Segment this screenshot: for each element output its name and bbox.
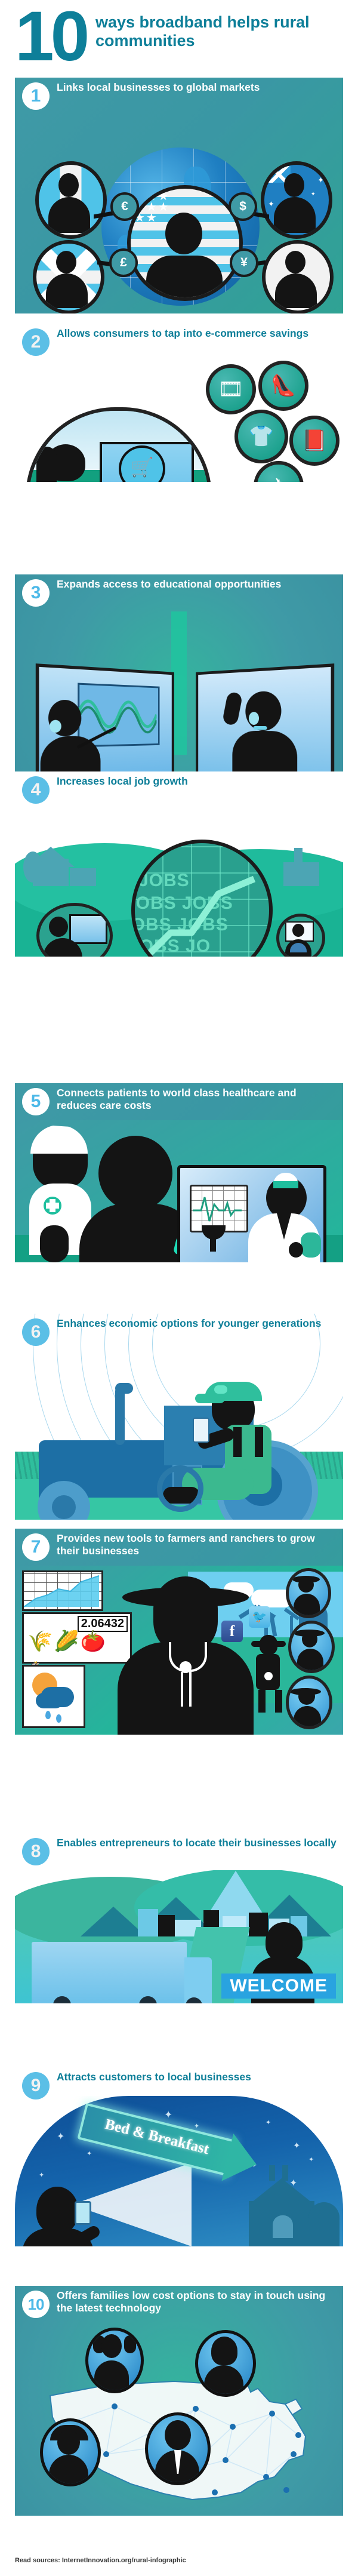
student-screen: [196, 663, 334, 771]
commodity-panel: 2.06432 🌾🌽🍅🐄: [22, 1612, 132, 1664]
currency-euro: €: [110, 192, 139, 221]
film-strip-icon: 🎞: [206, 364, 256, 414]
avatar-japan: [262, 240, 334, 313]
book-icon: 📕: [289, 416, 340, 466]
section-2-title: Allows consumers to tap into e-commerce …: [57, 327, 337, 340]
tv-screen: [177, 1165, 326, 1262]
section-9-art: ✦ ✦ ✦ ✦ ✦ ✦ ✦ ✦ ✦ ✦ ✦ ✦: [15, 2096, 343, 2246]
section-10-title: Offers families low cost options to stay…: [57, 2289, 337, 2314]
section-9-header: 9 Attracts customers to local businesses: [15, 2067, 343, 2096]
section-3-header: 3 Expands access to educational opportun…: [15, 574, 343, 611]
high-heel-shoe-icon: 👠: [258, 361, 308, 411]
section-1-title: Links local businesses to global markets: [57, 81, 337, 94]
woman-avatar: [195, 2330, 256, 2397]
section-9: 9 Attracts customers to local businesses…: [15, 2067, 343, 2246]
section-10-art: [15, 2323, 343, 2516]
avatar-usa: ★★★★★★★★: [127, 185, 243, 301]
section-7-title: Provides new tools to farmers and ranche…: [57, 1532, 337, 1557]
section-4-art: JOBS JOBS JOBS JOBS JOBS JOBS JO: [15, 803, 343, 957]
section-2-header: 2 Allows consumers to tap into e-commerc…: [15, 324, 343, 361]
section-6: 6 Enhances economic options for younger …: [15, 1314, 343, 1520]
facebook-icon[interactable]: f: [221, 1621, 243, 1642]
section-3-art: [15, 611, 343, 771]
section-5-title: Connects patients to world class healthc…: [57, 1087, 337, 1112]
section-2-art: 🛒 🎞 👠 👕 📕 ✈: [15, 361, 343, 482]
jobs-growth-ball: JOBS JOBS JOBS JOBS JOBS JOBS JO: [131, 840, 273, 957]
section-6-art: [15, 1351, 343, 1520]
airplane-icon: ✈: [254, 461, 304, 482]
rancher-avatar-3: [286, 1676, 332, 1729]
girl-avatar: [85, 2328, 144, 2393]
section-4-header: 4 Increases local job growth: [15, 771, 343, 803]
section-8-badge: 8: [22, 1838, 50, 1865]
section-4-badge: 4: [22, 776, 50, 804]
section-4: 4 Increases local job growth JOBS JOBS J…: [15, 771, 343, 957]
page-header: 10 ways broadband helps rural communitie…: [15, 6, 343, 75]
section-9-title: Attracts customers to local businesses: [57, 2071, 337, 2083]
section-5-header: 5 Connects patients to world class healt…: [15, 1083, 343, 1120]
section-6-badge: 6: [22, 1318, 50, 1346]
section-7-badge: 7: [22, 1533, 50, 1561]
section-10: 10 Offers families low cost options to s…: [15, 2286, 343, 2516]
soldier-avatar: [40, 2418, 101, 2486]
section-1-badge: 1: [22, 82, 50, 110]
section-3-title: Expands access to educational opportunit…: [57, 578, 337, 591]
section-3-badge: 3: [22, 579, 50, 607]
section-7-art: 2.06432 🌾🌽🍅🐄 f: [15, 1566, 343, 1735]
person-at-desk-icon: [276, 914, 325, 957]
section-8-title: Enables entrepreneurs to locate their bu…: [57, 1837, 337, 1849]
shirt-icon: 👕: [234, 410, 288, 463]
section-6-header: 6 Enhances economic options for younger …: [15, 1314, 343, 1351]
teacher-screen: [36, 663, 174, 771]
section-10-badge: 10: [22, 2291, 50, 2318]
shopper-scene: 🛒: [26, 407, 212, 482]
page-title: ways broadband helps rural communities: [95, 13, 346, 50]
section-5-art: [15, 1120, 343, 1262]
section-8-header: 8 Enables entrepreneurs to locate their …: [15, 1833, 343, 1870]
avatar-uk: [33, 240, 104, 313]
twitter-icon[interactable]: 🐦: [249, 1606, 270, 1628]
section-1-art: ★★★★★★★★ ✦ ✦ ✦: [15, 115, 343, 313]
section-10-header: 10 Offers families low cost options to s…: [15, 2286, 343, 2323]
section-5: 5 Connects patients to world class healt…: [15, 1083, 343, 1262]
infographic-page: 10 ways broadband helps rural communitie…: [0, 0, 358, 2576]
currency-pound: £: [109, 248, 138, 277]
night-sky-stars: ✦ ✦ ✦ ✦ ✦ ✦ ✦ ✦ ✦ ✦ ✦ ✦: [15, 2096, 343, 2246]
welcome-sign: WELCOME: [221, 1974, 336, 1999]
source-note: Read sources: InternetInnovation.org/rur…: [15, 2557, 343, 2564]
section-2-badge: 2: [22, 328, 50, 356]
weather-panel: [22, 1665, 85, 1728]
section-8-art: WELCOME: [15, 1870, 343, 2003]
man-avatar: [145, 2412, 211, 2485]
market-chart-panel: [22, 1570, 103, 1611]
rancher-avatar-2: [288, 1621, 335, 1673]
section-7-header: 7 Provides new tools to farmers and ranc…: [15, 1529, 343, 1566]
rancher-avatar-1: [286, 1568, 331, 1618]
avatar-australia: ✦ ✦ ✦: [261, 161, 332, 239]
currency-dollar: $: [229, 192, 257, 221]
section-7: 7 Provides new tools to farmers and ranc…: [15, 1529, 343, 1735]
avatar-france: [35, 161, 107, 239]
currency-yen: ¥: [230, 248, 258, 277]
delivery-truck-icon: [32, 1942, 187, 2003]
section-1-header: 1 Links local businesses to global marke…: [15, 78, 343, 115]
section-8: 8 Enables entrepreneurs to locate their …: [15, 1833, 343, 2003]
section-1: 1 Links local businesses to global marke…: [15, 78, 343, 313]
section-5-badge: 5: [22, 1088, 50, 1115]
section-3: 3 Expands access to educational opportun…: [15, 574, 343, 771]
section-4-title: Increases local job growth: [57, 775, 337, 788]
section-6-title: Enhances economic options for younger ge…: [57, 1317, 337, 1330]
section-2: 2 Allows consumers to tap into e-commerc…: [15, 324, 343, 482]
header-number: 10: [15, 1, 86, 72]
